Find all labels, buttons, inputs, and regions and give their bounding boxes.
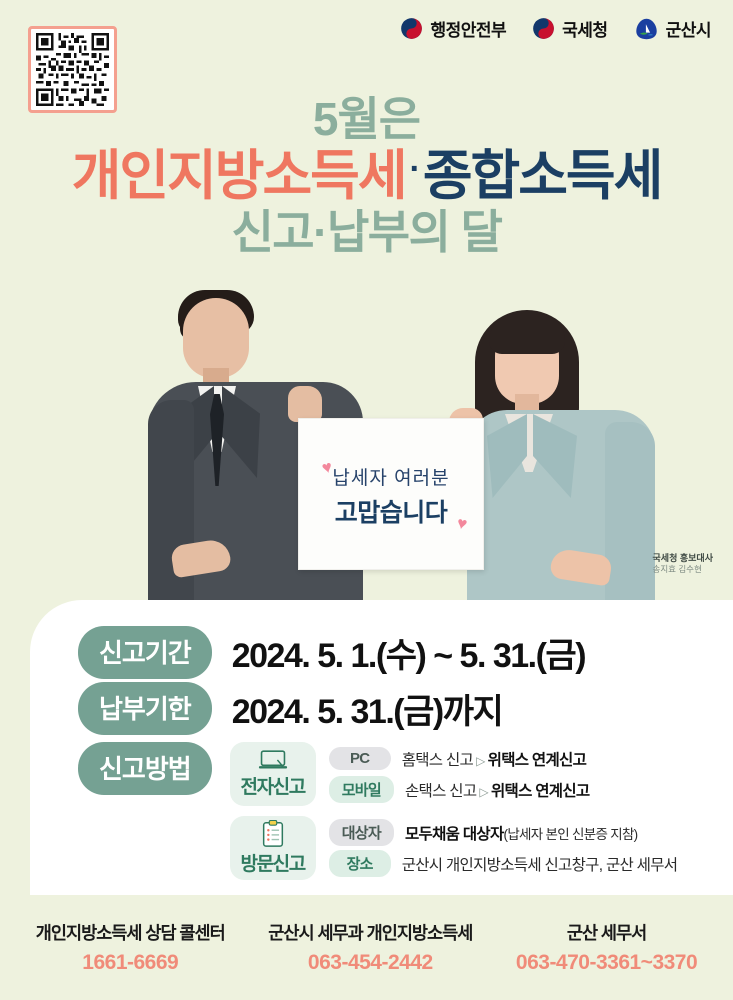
payment-due-value: 2024. 5. 31.(금)까지 (232, 684, 503, 733)
filing-method-row: 신고방법 전자신고 PC (78, 742, 677, 890)
headline-line3: 신고·납부의 달 (0, 209, 733, 255)
pc-step2: 위택스 연계신고 (488, 752, 587, 769)
ambassador-photo: ♥ ♥ 납세자 여러분 고맙습니다 (0, 280, 733, 610)
mobile-option-text: 손택스 신고▷위택스 연계신고 (405, 779, 589, 801)
location-option-text: 군산시 개인지방소득세 신고창구, 군산 세무서 (402, 853, 678, 875)
agency-logo-bar: 행정안전부 국세청 군산시 (400, 16, 711, 41)
arrow-icon: ▷ (473, 754, 488, 768)
filing-period-row: 신고기간 2024. 5. 1.(수) ~ 5. 31.(금) (78, 626, 585, 679)
filing-period-label: 신고기간 (78, 626, 212, 679)
headline-local-income-tax: 개인지방소득세 (72, 146, 406, 206)
contact-phone[interactable]: 1661-6669 (36, 951, 225, 975)
pc-step1: 홈택스 신고 (402, 752, 473, 769)
electronic-filing-block: 전자신고 PC 홈택스 신고▷위택스 연계신고 모바일 손택스 신고▷위택스 연… (230, 742, 678, 806)
payment-due-row: 납부기한 2024. 5. 31.(금)까지 (78, 682, 502, 735)
visit-filing-block: 방문신고 대상자 모두채움 대상자(납세자 본인 신분증 지참) 장소 군산시 … (230, 816, 678, 880)
contact-gunsan-tax-office: 군산 세무서 063-470-3361~3370 (516, 920, 697, 975)
male-hand-holding-sign (288, 386, 322, 422)
headline-comprehensive-income-tax: 종합소득세 (423, 146, 661, 206)
contact-name: 군산 세무서 (516, 920, 697, 945)
contact-callcenter: 개인지방소득세 상담 콜센터 1661-6669 (36, 920, 225, 975)
filing-option-mobile: 모바일 손택스 신고▷위택스 연계신고 (329, 774, 590, 805)
contact-footer: 개인지방소득세 상담 콜센터 1661-6669 군산시 세무과 개인지방소득세… (0, 895, 733, 1000)
mobile-step2: 위택스 연계신고 (491, 783, 590, 800)
filing-option-target: 대상자 모두채움 대상자(납세자 본인 신분증 지참) (329, 817, 678, 848)
headline-separator: · (406, 150, 423, 188)
filing-method-cards: 전자신고 PC 홈택스 신고▷위택스 연계신고 모바일 손택스 신고▷위택스 연… (230, 742, 678, 890)
thank-you-sign: ♥ ♥ 납세자 여러분 고맙습니다 (298, 418, 484, 570)
contact-name: 군산시 세무과 개인지방소득세 (268, 920, 472, 945)
target-note: (납세자 본인 신분증 지참) (504, 827, 638, 842)
contact-phone[interactable]: 063-454-2442 (268, 951, 472, 975)
tag-pc: PC (329, 747, 391, 770)
filing-option-pc: PC 홈택스 신고▷위택스 연계신고 (329, 743, 590, 774)
headline-line2: 개인지방소득세·종합소득세 (0, 149, 733, 203)
arrow-icon: ▷ (476, 785, 491, 799)
ambassador-title: 국세청 홍보대사 (653, 552, 713, 564)
sign-line2: 고맙습니다 (299, 493, 483, 529)
logo-label-gunsan: 군산시 (666, 16, 711, 41)
visit-filing-card[interactable]: 방문신고 (230, 816, 316, 880)
logo-label-nts: 국세청 (562, 16, 607, 41)
laptop-icon (258, 749, 288, 771)
tag-target: 대상자 (329, 819, 394, 846)
clipboard-checklist-icon (260, 820, 286, 848)
sign-line1: 납세자 여러분 (299, 463, 483, 490)
contact-phone[interactable]: 063-470-3361~3370 (516, 951, 697, 975)
target-main: 모두채움 대상자 (405, 826, 504, 843)
male-arm (148, 400, 194, 610)
logo-nts: 국세청 (532, 16, 607, 41)
tag-location: 장소 (329, 850, 391, 877)
male-head (183, 298, 249, 378)
visit-filing-options: 대상자 모두채움 대상자(납세자 본인 신분증 지참) 장소 군산시 개인지방소… (329, 817, 678, 879)
payment-due-label: 납부기한 (78, 682, 212, 735)
female-model (455, 310, 655, 610)
logo-label-mois: 행정안전부 (430, 16, 506, 41)
contact-name: 개인지방소득세 상담 콜센터 (36, 920, 225, 945)
tax-notice-poster: 행정안전부 국세청 군산시 5월은 개인지방소득세·종합소득세 신고·납부의 달 (0, 0, 733, 1000)
pc-option-text: 홈택스 신고▷위택스 연계신고 (402, 748, 586, 770)
visit-filing-title: 방문신고 (241, 849, 305, 876)
filing-method-label: 신고방법 (78, 742, 212, 795)
contact-gunsan-tax-division: 군산시 세무과 개인지방소득세 063-454-2442 (268, 920, 472, 975)
logo-mois: 행정안전부 (400, 16, 506, 41)
filing-period-value: 2024. 5. 1.(수) ~ 5. 31.(금) (232, 628, 585, 677)
tag-mobile: 모바일 (329, 776, 394, 803)
ambassador-names: 송지효 김수현 (653, 564, 713, 575)
taegeuk-icon (400, 17, 423, 40)
female-hair-front (489, 314, 565, 354)
electronic-filing-card[interactable]: 전자신고 (230, 742, 316, 806)
gunsan-city-icon (634, 17, 659, 41)
mobile-step1: 손택스 신고 (405, 783, 476, 800)
electronic-filing-options: PC 홈택스 신고▷위택스 연계신고 모바일 손택스 신고▷위택스 연계신고 (329, 743, 590, 805)
logo-gunsan: 군산시 (634, 16, 711, 41)
taegeuk-icon (532, 17, 555, 40)
filing-option-location: 장소 군산시 개인지방소득세 신고창구, 군산 세무서 (329, 848, 678, 879)
ambassador-caption: 국세청 홍보대사 송지효 김수현 (653, 552, 713, 576)
poster-headline: 5월은 개인지방소득세·종합소득세 신고·납부의 달 (0, 96, 733, 255)
info-panel: 신고기간 2024. 5. 1.(수) ~ 5. 31.(금) 납부기한 202… (30, 600, 733, 895)
target-option-text: 모두채움 대상자(납세자 본인 신분증 지참) (405, 822, 637, 844)
electronic-filing-title: 전자신고 (241, 772, 305, 799)
headline-line1: 5월은 (0, 96, 733, 142)
female-arm (605, 422, 655, 610)
